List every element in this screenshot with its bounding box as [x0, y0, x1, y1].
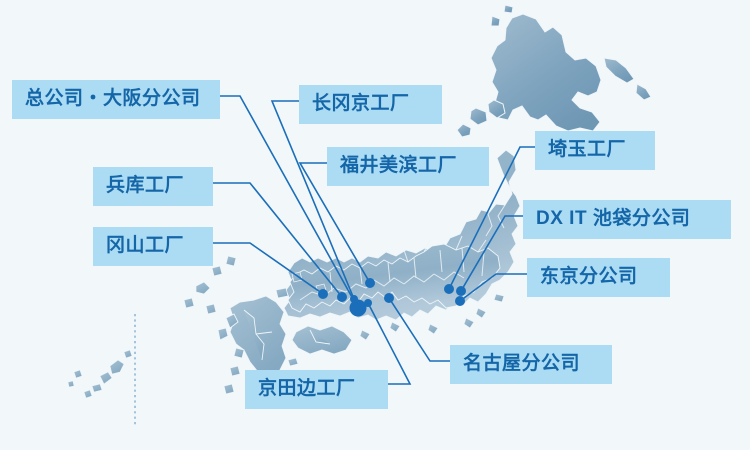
label-tokyo-branch[interactable]: 东京分公司	[527, 258, 670, 297]
marker-group	[318, 278, 466, 317]
marker-tokyo[interactable]	[455, 296, 465, 306]
label-kyotanabe-factory[interactable]: 京田边工厂	[245, 370, 388, 409]
marker-kyotanabe[interactable]	[364, 299, 372, 307]
label-nagoya-branch[interactable]: 名古屋分公司	[450, 345, 612, 384]
label-saitama-factory[interactable]: 埼玉工厂	[535, 131, 655, 170]
marker-nagoya[interactable]	[384, 293, 394, 303]
marker-ikebukuro[interactable]	[456, 286, 466, 296]
label-head-office-osaka[interactable]: 总公司・大阪分公司	[12, 80, 220, 119]
label-dx-it-ikebukuro-branch[interactable]: DX IT 池袋分公司	[523, 200, 731, 239]
marker-hyogo[interactable]	[337, 292, 347, 302]
label-fukui-mihama-factory[interactable]: 福井美滨工厂	[327, 147, 489, 186]
label-nagaokakyo-factory[interactable]: 长冈京工厂	[299, 85, 442, 124]
marker-fukui[interactable]	[365, 278, 375, 288]
marker-osaka-head[interactable]	[350, 300, 367, 317]
map-canvas: 总公司・大阪分公司 长冈京工厂 埼玉工厂 福井美滨工厂 兵库工厂 DX IT 池…	[0, 0, 750, 450]
label-okayama-factory[interactable]: 冈山工厂	[93, 227, 213, 266]
marker-okayama[interactable]	[318, 289, 328, 299]
label-hyogo-factory[interactable]: 兵库工厂	[93, 167, 213, 206]
marker-saitama[interactable]	[444, 284, 454, 294]
